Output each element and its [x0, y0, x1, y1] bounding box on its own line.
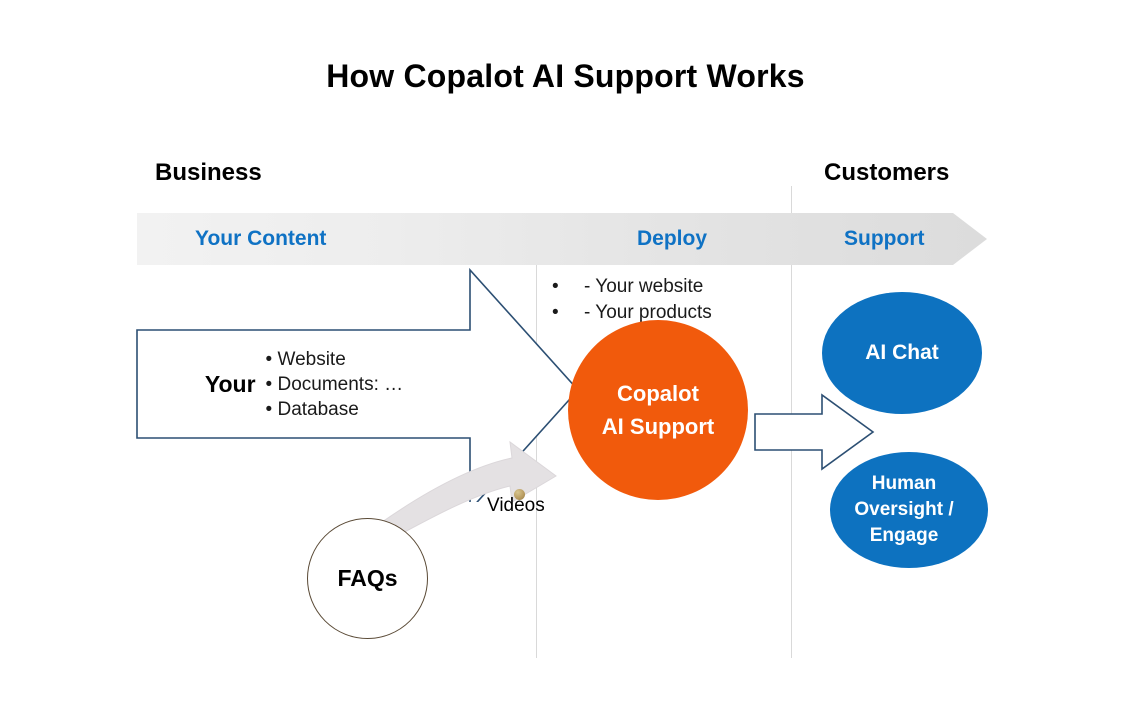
deploy-target-list: • - Your website • - Your products	[552, 274, 712, 326]
input-source-item: • Website	[266, 347, 404, 372]
phase-step-your-content[interactable]: Your Content	[195, 213, 326, 265]
source-node-videos: Videos	[487, 495, 545, 517]
phase-band: Your Content Deploy Support	[137, 213, 987, 265]
deploy-list-item: • - Your website	[552, 274, 712, 300]
input-arrow-content: Your • Website • Documents: … • Database	[137, 330, 471, 438]
phase-step-deploy[interactable]: Deploy	[637, 213, 707, 265]
page-title: How Copalot AI Support Works	[0, 58, 1131, 95]
input-source-item: • Documents: …	[266, 372, 404, 397]
hub-node-copalot-ai-support[interactable]: Copalot AI Support	[568, 320, 748, 500]
customer-node-ai-chat[interactable]: AI Chat	[822, 292, 982, 414]
input-arrow-source-list: • Website • Documents: … • Database	[266, 347, 404, 422]
source-node-faqs[interactable]: FAQs	[307, 518, 428, 639]
bullet-icon: •	[552, 300, 584, 326]
customer-node-label: Human Oversight / Engage	[830, 471, 988, 549]
deploy-list-item: • - Your products	[552, 300, 712, 326]
hub-label-line-2: AI Support	[602, 410, 714, 443]
input-arrow-lead-label: Your	[205, 371, 256, 398]
hub-label-line-1: Copalot	[617, 377, 699, 410]
phase-step-support[interactable]: Support	[844, 213, 924, 265]
input-source-item: • Database	[266, 397, 404, 422]
deploy-list-item-label: - Your website	[584, 274, 703, 300]
lane-label-customers: Customers	[824, 159, 949, 187]
customer-node-human-oversight[interactable]: Human Oversight / Engage	[830, 452, 988, 568]
lane-label-business: Business	[155, 159, 262, 187]
customer-node-label: AI Chat	[865, 341, 939, 365]
diagram-canvas: How Copalot AI Support Works Business Cu…	[0, 0, 1131, 709]
handoff-arrow-outline	[755, 395, 873, 469]
source-node-label: FAQs	[337, 565, 397, 592]
bullet-icon: •	[552, 274, 584, 300]
